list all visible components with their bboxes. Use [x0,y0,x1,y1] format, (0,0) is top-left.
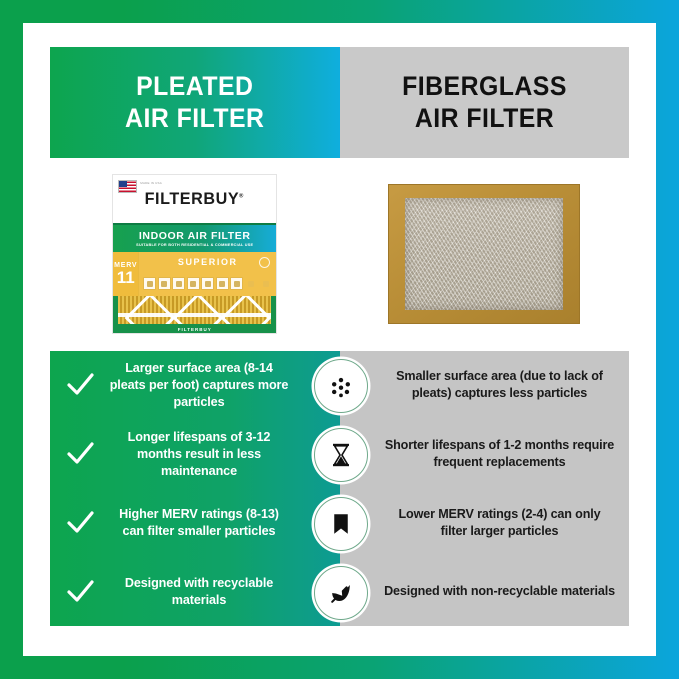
filter-box-top: MADE IN USA FILTERBUY® [113,175,276,225]
filter-grade-label: SUPERIOR [139,252,276,271]
header-row: PLEATED AIR FILTER FIBERGLASS AIR FILTER [50,47,629,158]
checkmark-icon [64,438,96,470]
header-fiberglass-panel: FIBERGLASS AIR FILTER [340,47,629,158]
comparison-row: Larger surface area (8-14 pleats per foo… [50,351,629,420]
usa-flag-icon [118,180,137,193]
row-4-left-text: Designed with recyclable materials [107,575,291,609]
comparison-row: Designed with recyclable materials Desig… [50,557,629,626]
feature-mold-icon [172,277,185,290]
filterbuy-brand-label: FILTERBUY® [145,189,244,209]
header-pleated-title: PLEATED AIR FILTER [125,71,264,135]
recycle-leaf-icon [314,566,368,620]
filter-box-microtext: MADE IN USA [140,181,162,186]
header-fiberglass-line2: AIR FILTER [415,103,554,133]
merv-badge: MERV 11 [113,252,139,296]
pleated-product-cell: MADE IN USA FILTERBUY® INDOOR AIR FILTER… [50,163,340,345]
row-2-right-text: Shorter lifespans of 1-2 months require … [384,437,615,471]
comparison-row: Longer lifespans of 3-12 months result i… [50,420,629,489]
feature-allergen-icon [230,277,243,290]
row-1-right: Smaller surface area (due to lack of ple… [340,351,629,420]
header-pleated-line2: AIR FILTER [125,103,264,133]
filter-box-grade-section: SUPERIOR [139,252,276,296]
pleated-filter-image: MADE IN USA FILTERBUY® INDOOR AIR FILTER… [112,174,277,334]
hourglass-icon [314,428,368,482]
row-3-left: Higher MERV ratings (8-13) can filter sm… [50,489,340,558]
row-2-left-text: Longer lifespans of 3-12 months result i… [107,429,291,480]
row-4-right: Designed with non-recyclable materials [340,557,629,626]
row-1-left-text: Larger surface area (8-14 pleats per foo… [107,360,291,411]
feature-pollen-icon [143,277,156,290]
header-fiberglass-line1: FIBERGLASS [402,71,567,101]
feature-pet-dander-icon [216,277,229,290]
comparison-row: Higher MERV ratings (8-13) can filter sm… [50,489,629,558]
indoor-air-filter-label: INDOOR AIR FILTER [139,230,251,242]
checkmark-icon [64,369,96,401]
row-3-left-text: Higher MERV ratings (8-13) can filter sm… [107,506,291,540]
row-2-right: Shorter lifespans of 1-2 months require … [340,420,629,489]
particles-icon [314,359,368,413]
bookmark-icon [314,497,368,551]
fiberglass-product-cell [340,163,630,345]
row-1-left: Larger surface area (8-14 pleats per foo… [50,351,340,420]
filter-box-band: INDOOR AIR FILTER SUITABLE FOR BOTH RESI… [113,225,276,252]
infographic-root: PLEATED AIR FILTER FIBERGLASS AIR FILTER… [0,0,679,679]
fiberglass-filter-image [388,184,580,324]
filter-box-merv-section: MERV 11 SUPERIOR [113,252,276,296]
header-pleated-panel: PLEATED AIR FILTER [50,47,340,158]
row-4-right-text: Designed with non-recyclable materials [384,583,615,600]
merv-value: 11 [117,269,135,286]
feature-smoke-icon [201,277,214,290]
feature-extra-b-icon [259,277,272,290]
row-3-right-text: Lower MERV ratings (2-4) can only filter… [384,506,615,540]
comparison-rows: Larger surface area (8-14 pleats per foo… [50,351,629,626]
row-4-left: Designed with recyclable materials [50,557,340,626]
filter-feature-icon-row [139,271,276,296]
row-2-left: Longer lifespans of 3-12 months result i… [50,420,340,489]
filter-box-footer-brand: FILTERBUY [113,327,276,332]
feature-dust-icon [158,277,171,290]
row-1-right-text: Smaller surface area (due to lack of ple… [384,368,615,402]
fiberglass-mesh [405,198,563,310]
feature-extra-a-icon [245,277,258,290]
checkmark-icon [64,507,96,539]
comparison-section: Larger surface area (8-14 pleats per foo… [50,351,629,626]
filter-use-label: SUITABLE FOR BOTH RESIDENTIAL & COMMERCI… [136,243,253,247]
brand-text: FILTERBUY [145,189,240,208]
row-3-right: Lower MERV ratings (2-4) can only filter… [340,489,629,558]
header-pleated-line1: PLEATED [136,71,253,101]
feature-bacteria-icon [187,277,200,290]
checkmark-icon [64,576,96,608]
trademark-mark: ® [240,193,245,199]
product-image-row: MADE IN USA FILTERBUY® INDOOR AIR FILTER… [50,163,629,345]
header-fiberglass-title: FIBERGLASS AIR FILTER [402,71,567,135]
white-card: PLEATED AIR FILTER FIBERGLASS AIR FILTER… [23,23,656,656]
